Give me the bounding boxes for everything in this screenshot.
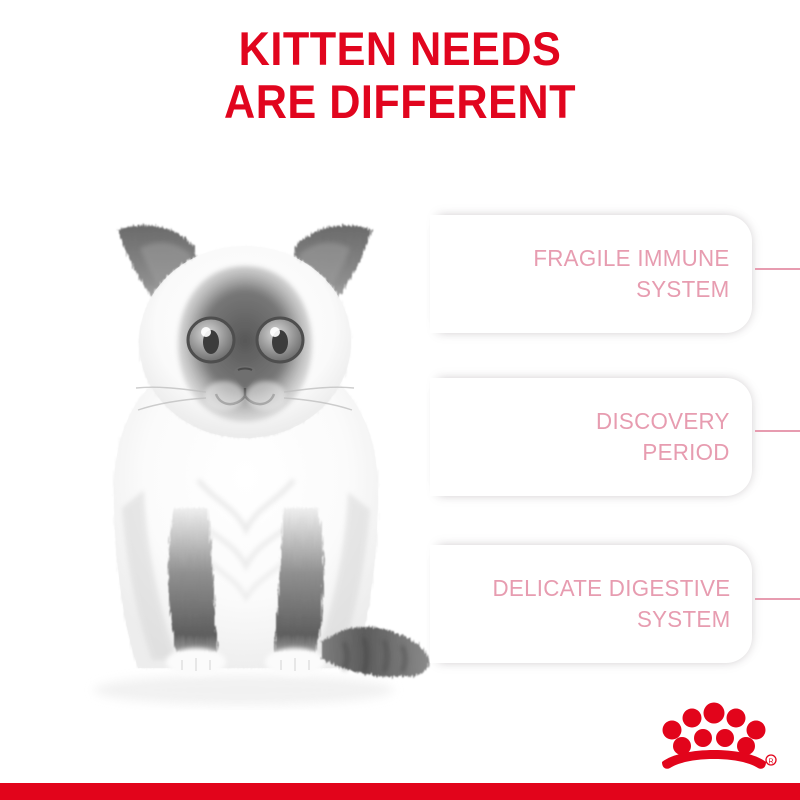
callout-label: DISCOVERY PERIOD [596,406,730,469]
callout-fragile-immune-system: FRAGILE IMMUNE SYSTEM [430,215,752,333]
callout-connector-line [755,268,800,270]
page-title-line-1: KITTEN NEEDS [32,22,768,75]
callout-discovery-period: DISCOVERY PERIOD [430,378,752,496]
svg-text:R: R [768,758,773,765]
callout-label: FRAGILE IMMUNE SYSTEM [534,243,730,306]
kitten-photo [48,190,448,710]
callout-delicate-digestive-system: DELICATE DIGESTIVE SYSTEM [430,545,752,663]
royal-canin-crown-logo: R [648,700,780,774]
page-title-line-2: ARE DIFFERENT [32,75,768,128]
callout-label: DELICATE DIGESTIVE SYSTEM [492,573,730,636]
bottom-brand-bar [0,783,800,800]
poster-canvas: KITTEN NEEDS ARE DIFFERENT [0,0,800,800]
registered-mark: R [766,755,776,765]
callout-connector-line [755,598,800,600]
page-title: KITTEN NEEDS ARE DIFFERENT [32,22,768,128]
callout-connector-line [755,430,800,432]
